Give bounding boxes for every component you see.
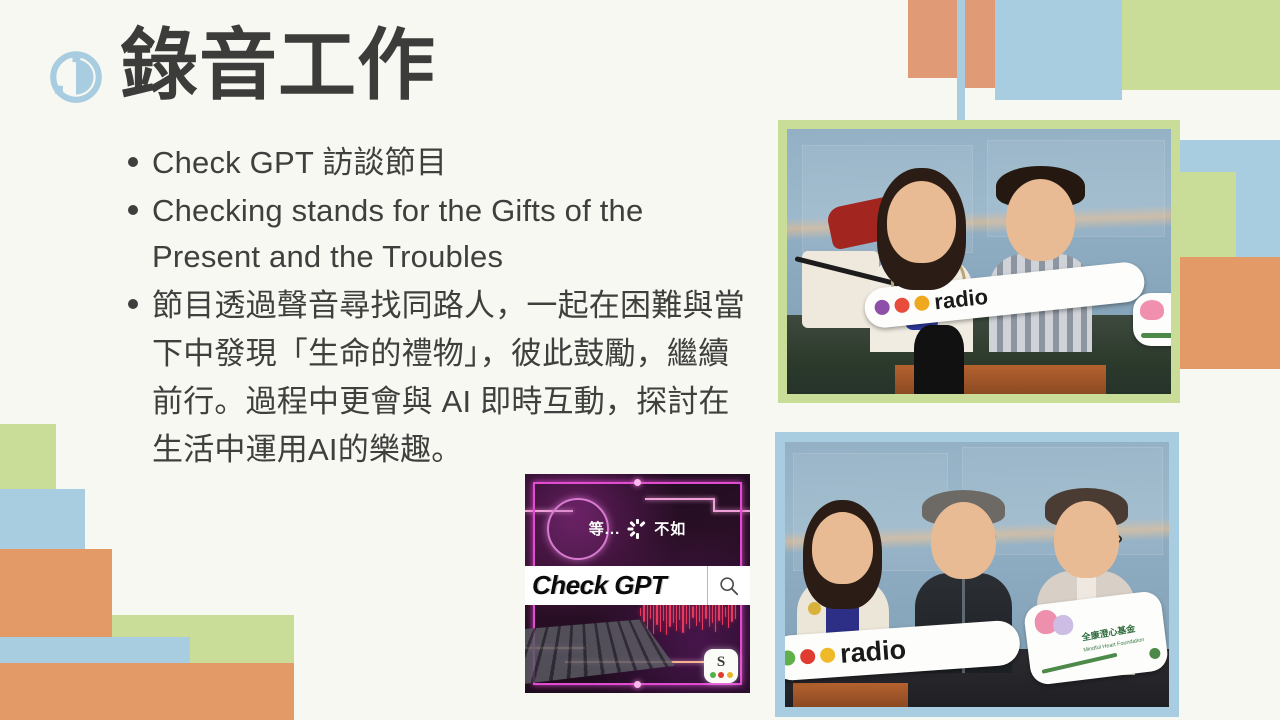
bullet-marker-icon (128, 157, 138, 167)
sign-stem (1042, 653, 1118, 674)
title-row: 錄音工作 (48, 26, 436, 106)
bullet-text: Check GPT 訪談節目 (152, 140, 447, 186)
logo-letter: S (717, 655, 725, 670)
sign-stem (1141, 333, 1171, 338)
list-item: 節目透過聲音尋找同路人，一起在困難與當下中發現「生命的禮物」，彼此鼓勵，繼續前行… (128, 282, 748, 474)
deco-right-orange-1 (1178, 257, 1280, 369)
bullet-text: 節目透過聲音尋找同路人，一起在困難與當下中發現「生命的禮物」，彼此鼓勵，繼續前行… (152, 282, 748, 474)
bullet-marker-icon (128, 205, 138, 215)
slide-canvas: 錄音工作 Check GPT 訪談節目 Checking stands for … (0, 0, 1280, 720)
check-gpt-cover-art: 等... 不如 Check GPT S (525, 474, 750, 693)
person-host-male (1006, 179, 1075, 352)
deco-left-orange-2 (0, 663, 294, 720)
heart-icon (1140, 300, 1164, 320)
radio-sign-text: radio (933, 283, 989, 314)
deco-left-blue-2 (0, 637, 190, 663)
deco-left-orange-1 (0, 549, 112, 644)
deco-top-blue-1 (995, 0, 1122, 100)
face (1006, 179, 1075, 261)
radio-app-logo-icon: S (704, 649, 738, 683)
deco-top-blue-line (957, 0, 965, 125)
tagline-right-text: 不如 (654, 518, 686, 539)
bullet-list: Check GPT 訪談節目 Checking stands for the G… (128, 140, 748, 476)
photo-content: radio 全康澄心基金 Mindful Heart Foundation (785, 442, 1169, 707)
circuit-node (634, 681, 641, 688)
logo-dots (710, 672, 733, 678)
radio-sign-dot (874, 299, 890, 315)
deco-left-blue-1 (0, 489, 85, 549)
face (887, 181, 956, 263)
studio-photo-two-hosts: radio (778, 120, 1180, 403)
face (1054, 501, 1119, 578)
deco-left-green-1 (0, 424, 56, 489)
deco-top-green-1 (1122, 0, 1280, 90)
foundation-sign-partial (1133, 293, 1171, 346)
face (931, 502, 996, 579)
deco-top-orange-2 (965, 0, 995, 88)
studio-photo-three-guests: radio 全康澄心基金 Mindful Heart Foundation (775, 432, 1179, 717)
wood-table-edge (793, 683, 908, 707)
bullet-marker-icon (128, 299, 138, 309)
bullet-text: Checking stands for the Gifts of the Pre… (152, 188, 748, 280)
tagline-left-text: 等... (589, 518, 621, 539)
cover-tagline: 等... 不如 (525, 518, 750, 539)
foreground-microphone (914, 325, 964, 394)
radio-sign-text: radio (839, 634, 907, 670)
loading-spinner-icon (627, 519, 647, 539)
foundation-dot-icon (1149, 648, 1161, 660)
page-title: 錄音工作 (120, 26, 436, 106)
search-bar-wordmark: Check GPT (525, 566, 750, 605)
radio-sign-dot (785, 650, 795, 666)
list-item: Checking stands for the Gifts of the Pre… (128, 188, 748, 280)
deco-top-orange-1 (908, 0, 958, 78)
circuit-node (634, 479, 641, 486)
list-item: Check GPT 訪談節目 (128, 140, 748, 186)
contrast-circle-icon (48, 49, 104, 105)
radio-sign-dot (819, 647, 835, 663)
radio-sign-dot (894, 297, 910, 313)
check-gpt-wordmark: Check GPT (525, 570, 707, 601)
radio-sign-dot (914, 295, 930, 311)
photo-content: radio (787, 129, 1171, 394)
heart-icon-secondary (1052, 614, 1075, 637)
face (812, 512, 873, 584)
magnifier-icon (707, 566, 750, 605)
radio-sign-dot (799, 648, 815, 664)
